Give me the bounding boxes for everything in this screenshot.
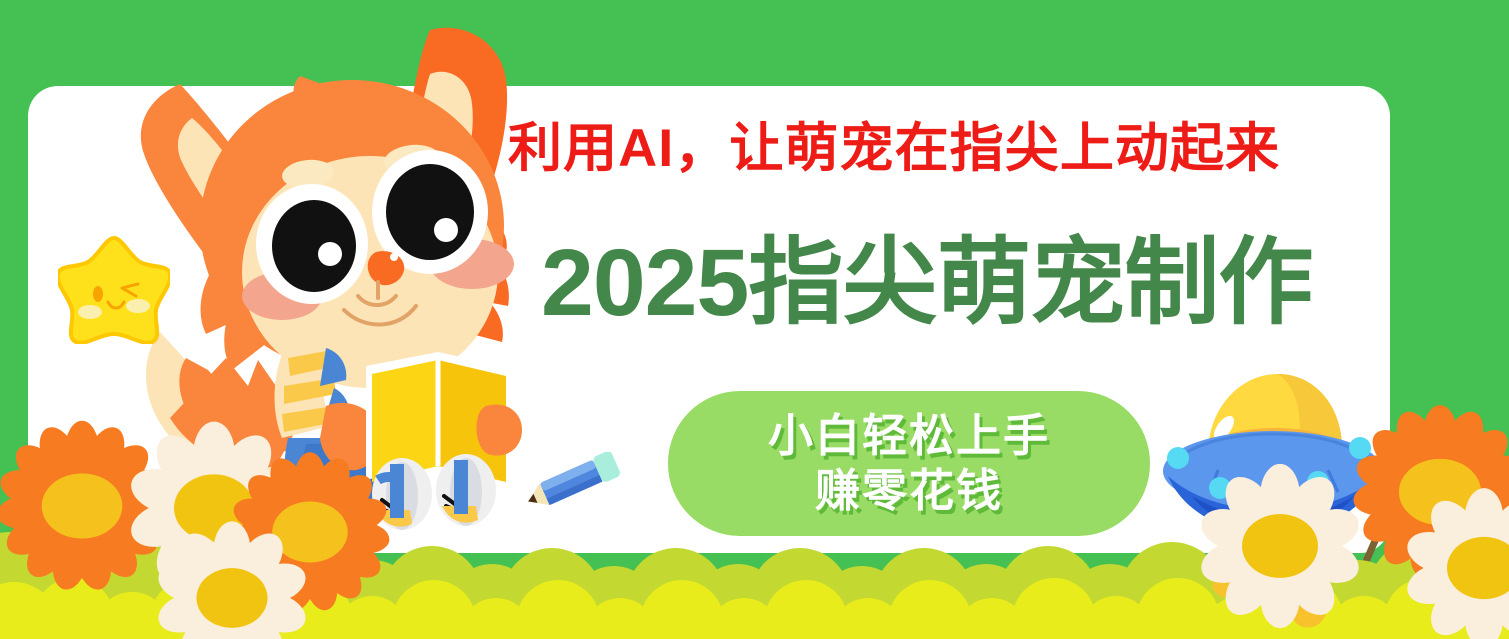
bottom-green-band [0,553,1509,639]
ufo-saucer [1148,358,1398,543]
pill-line-1: 小白轻松上手 [768,409,1050,464]
reading-fox-character [130,14,540,539]
headline-text: 利用AI，让萌宠在指尖上动起来 [508,122,1280,175]
benefit-pill: 小白轻松上手 赚零花钱 [668,391,1150,536]
winking-star [58,232,170,344]
poster-canvas: 利用AI，让萌宠在指尖上动起来 2025指尖萌宠制作 小白轻松上手 赚零花钱 [0,0,1509,639]
page-title: 2025指尖萌宠制作 [541,236,1312,331]
pill-line-2: 赚零花钱 [815,464,1003,519]
blue-pencil [512,452,632,512]
